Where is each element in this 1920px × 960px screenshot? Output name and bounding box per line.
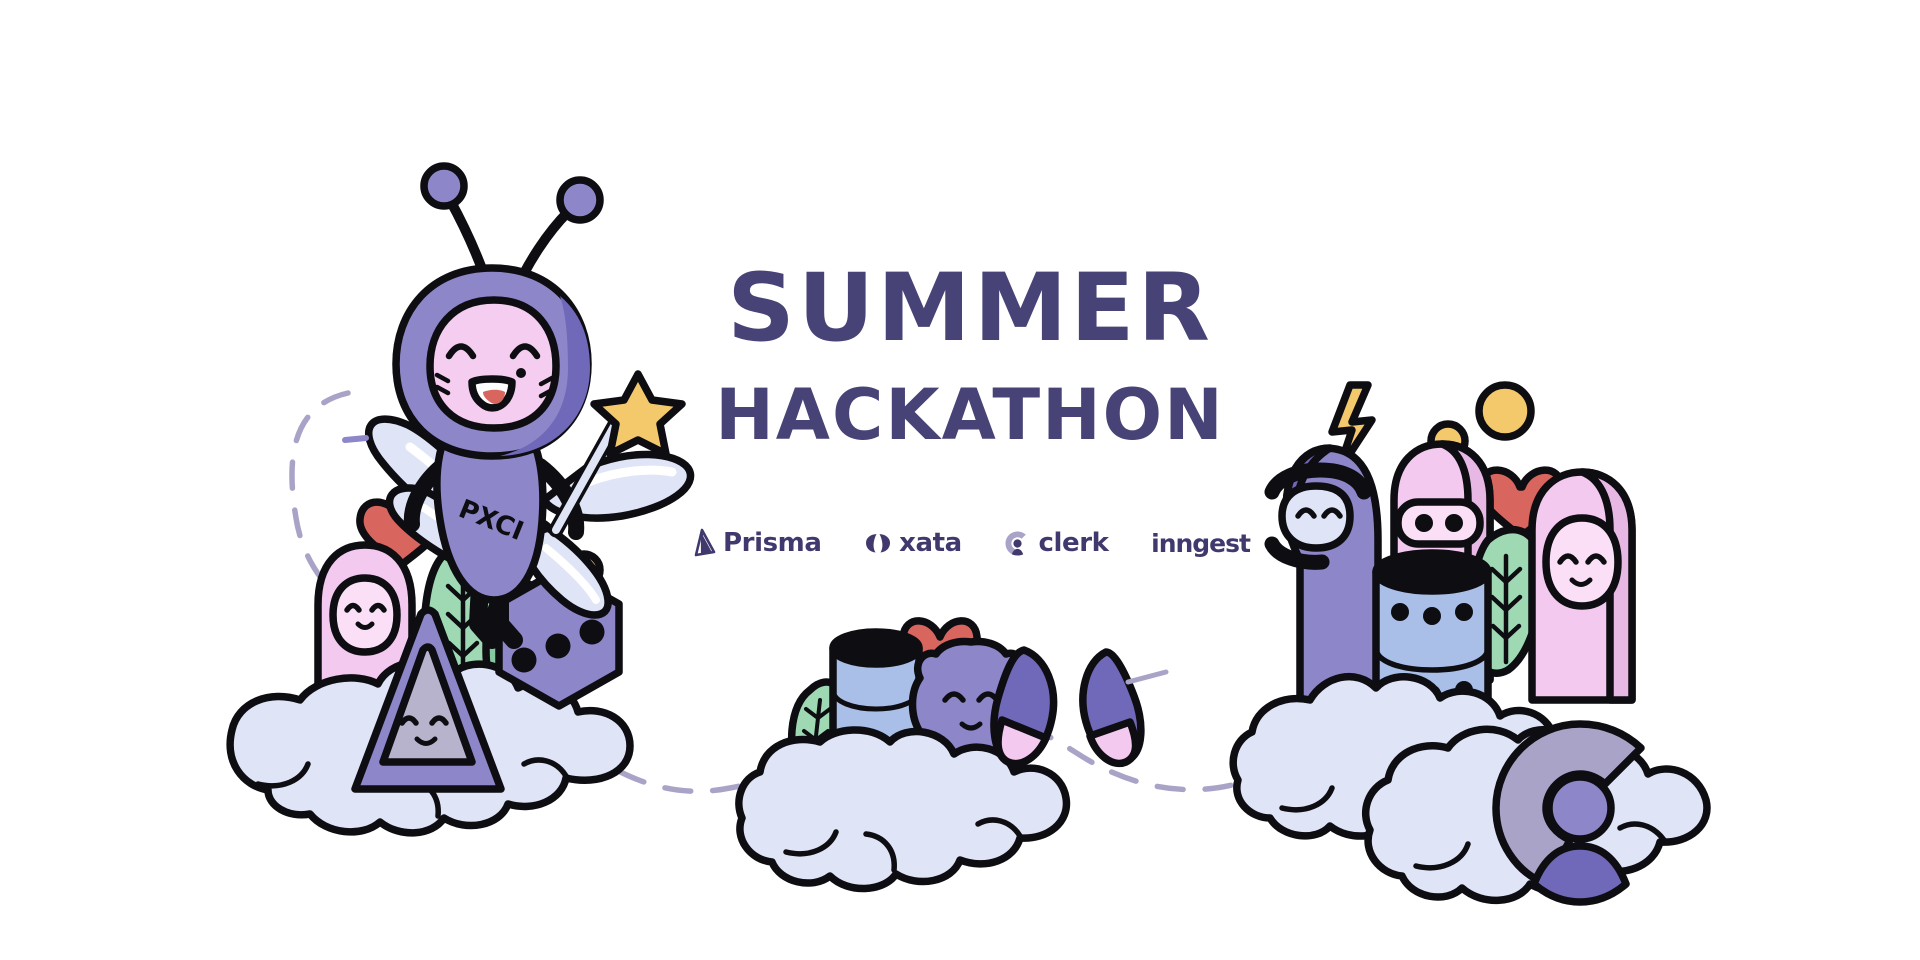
sponsor-clerk-label: clerk: [1038, 528, 1108, 558]
sponsor-prisma[interactable]: Prisma: [690, 528, 822, 558]
xata-butterfly-icon: [864, 529, 892, 557]
title-block: SUMMER HACKATHON: [690, 262, 1250, 450]
clerk-arc-person-icon: [1004, 530, 1031, 557]
sponsor-inngest-label: inngest: [1151, 529, 1250, 558]
sponsor-prisma-label: Prisma: [723, 528, 822, 558]
pxci-fairy-mascot: PXCI: [0, 0, 1920, 960]
sponsor-clerk[interactable]: clerk: [1004, 528, 1108, 558]
title-main: SUMMER: [690, 262, 1250, 356]
sponsor-inngest[interactable]: inngest: [1151, 529, 1250, 558]
hackathon-banner: PXCI SUMMER: [0, 0, 1920, 960]
prisma-triangle-icon: [690, 528, 716, 558]
motion-tick: [345, 438, 366, 440]
sponsor-logo-row: Prisma xata clerk inngest: [690, 528, 1250, 558]
title-sub: HACKATHON: [690, 380, 1250, 450]
sponsor-xata[interactable]: xata: [864, 528, 962, 558]
sponsor-xata-label: xata: [899, 528, 962, 558]
